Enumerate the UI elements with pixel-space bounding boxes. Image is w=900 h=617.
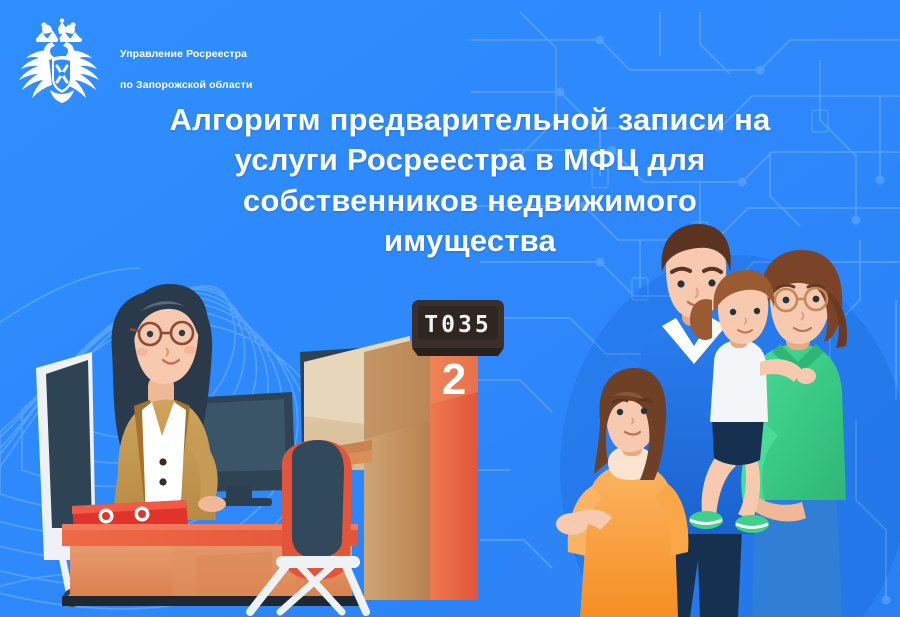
title-line-2: услуги Росреестра в МФЦ для — [120, 140, 820, 180]
page-title: Алгоритм предварительной записи на услуг… — [120, 100, 820, 261]
queue-display-text: T035 — [424, 312, 491, 338]
header-brand: Управление Росреестра по Запорожской обл… — [0, 0, 252, 108]
title-line-3: собственников недвижимого — [120, 181, 820, 221]
org-name: Управление Росреестра по Запорожской обл… — [120, 32, 252, 108]
poster-canvas: 2 T035 — [0, 0, 900, 617]
counter-number-text: 2 — [442, 355, 466, 404]
title-line-4: имущества — [120, 221, 820, 261]
org-name-line1: Управление Росреестра — [120, 47, 252, 62]
queue-display-board: T035 — [412, 300, 504, 356]
rosreestr-emblem-icon — [14, 18, 110, 104]
title-line-1: Алгоритм предварительной записи на — [120, 100, 820, 140]
org-name-line2: по Запорожской области — [120, 78, 252, 93]
